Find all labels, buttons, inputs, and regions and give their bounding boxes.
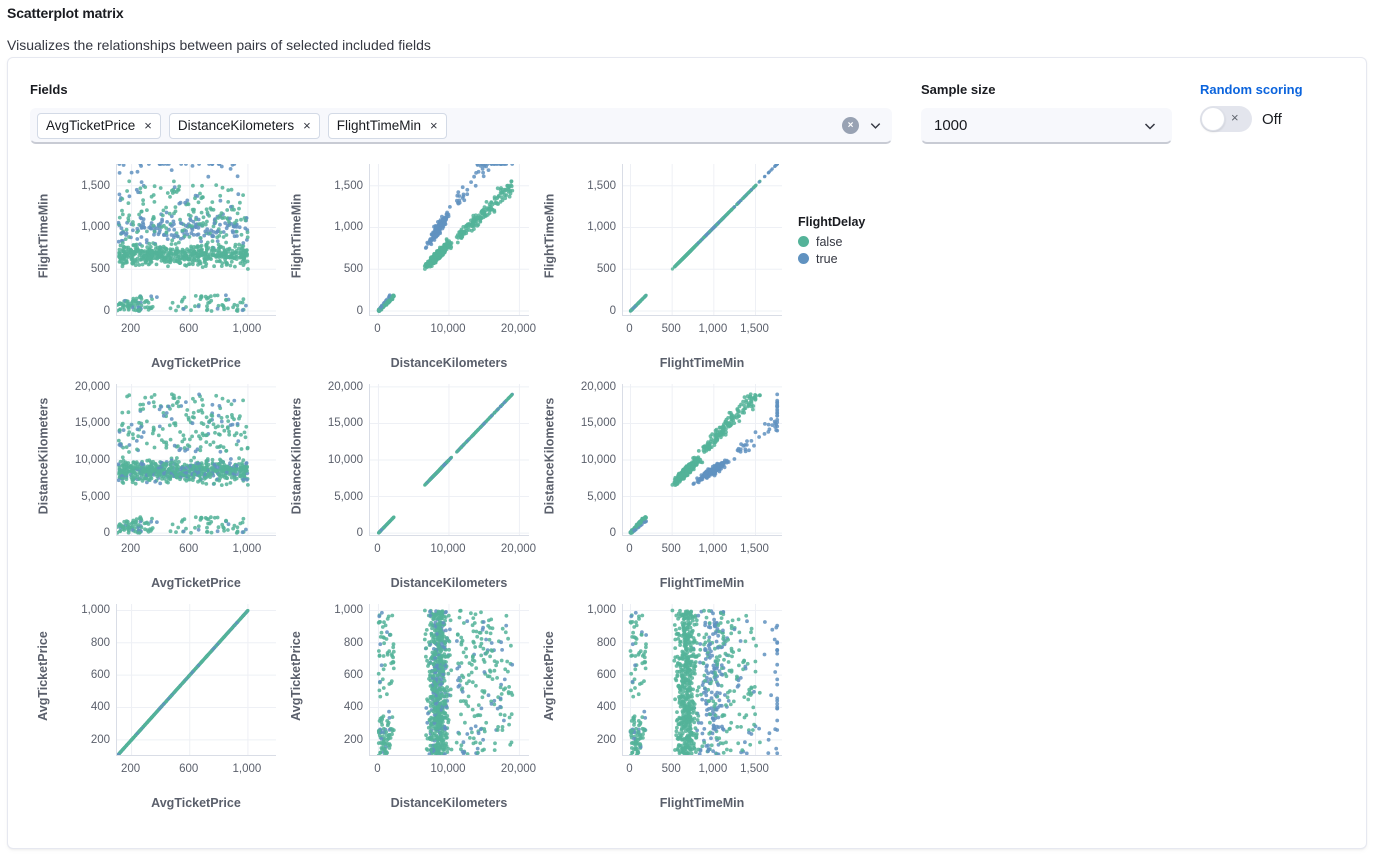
y-axis-tick-label: 5,000 [334, 491, 363, 503]
plot-area[interactable] [369, 164, 529, 316]
y-axis-tick-label: 200 [597, 734, 616, 746]
x-axis-tick-label: 1,000 [698, 323, 727, 335]
x-axis-tick-label: 20,000 [501, 543, 536, 555]
y-axis-tick-label: 200 [91, 734, 110, 746]
y-axis-tick-label: 15,000 [328, 417, 363, 429]
y-axis-tick-label: 800 [91, 637, 110, 649]
field-pill-flighttimemin[interactable]: FlightTimeMin × [328, 113, 447, 139]
controls-bar: Fields AvgTicketPrice × DistanceKilomete… [8, 58, 1366, 158]
scatter-panel-avgticketprice-vs-distancekilometers[interactable]: AvgTicketPrice2004006008001,000010,00020… [283, 596, 536, 836]
combobox-actions: × [842, 109, 883, 142]
random-scoring-state: Off [1262, 111, 1282, 128]
x-axis-tick-label: 0 [374, 323, 380, 335]
y-axis-tick-label: 400 [597, 701, 616, 713]
y-axis-tick-label: 5,000 [81, 491, 110, 503]
x-axis-title: FlightTimeMin [582, 796, 822, 810]
y-axis-title: AvgTicketPrice [283, 596, 309, 756]
legend-item-false[interactable]: false [798, 233, 865, 250]
matrix-row: FlightTimeMin05001,0001,5002006001,000Av… [30, 156, 789, 376]
x-axis-tick-label: 200 [121, 543, 140, 555]
y-axis-tick-label: 1,000 [587, 604, 616, 616]
x-axis-tick-label: 1,500 [740, 543, 769, 555]
field-pill-distancekilometers[interactable]: DistanceKilometers × [169, 113, 320, 139]
y-axis-tick-label: 800 [597, 637, 616, 649]
x-axis-tick-label: 1,000 [698, 763, 727, 775]
remove-field-icon[interactable]: × [303, 119, 311, 132]
y-axis-tick-label: 500 [344, 263, 363, 275]
field-pill-avgticketprice[interactable]: AvgTicketPrice × [37, 113, 161, 139]
scatter-panel-flighttimemin-vs-distancekilometers[interactable]: FlightTimeMin05001,0001,500010,00020,000… [283, 156, 536, 376]
legend-color-swatch [798, 236, 809, 247]
x-axis-title: AvgTicketPrice [76, 576, 316, 590]
x-axis-title: FlightTimeMin [582, 356, 822, 370]
y-axis-title: DistanceKilometers [536, 376, 562, 536]
x-axis-tick-label: 1,000 [233, 543, 262, 555]
x-axis-tick-label: 500 [662, 543, 681, 555]
scatter-panel-distancekilometers-vs-flighttimemin[interactable]: DistanceKilometers05,00010,00015,00020,0… [536, 376, 789, 596]
plot-area[interactable] [369, 384, 529, 536]
y-axis-title: AvgTicketPrice [536, 596, 562, 756]
scatter-panel-avgticketprice-vs-avgticketprice[interactable]: AvgTicketPrice2004006008001,0002006001,0… [30, 596, 283, 836]
matrix-row: DistanceKilometers05,00010,00015,00020,0… [30, 376, 789, 596]
y-axis-tick-label: 10,000 [328, 454, 363, 466]
plot-area[interactable] [622, 384, 782, 536]
legend-color-swatch [798, 253, 809, 264]
field-pill-label: AvgTicketPrice [46, 118, 135, 133]
x-axis-tick-label: 20,000 [501, 323, 536, 335]
x-axis-title: FlightTimeMin [582, 576, 822, 590]
random-scoring-toggle-wrap: × Off [1200, 106, 1282, 132]
x-axis-tick-label: 500 [662, 763, 681, 775]
random-scoring-label[interactable]: Random scoring [1200, 82, 1303, 97]
y-axis-tick-label: 1,000 [334, 221, 363, 233]
x-axis-title: DistanceKilometers [329, 796, 569, 810]
scatterplot-matrix-page: Scatterplot matrix Visualizes the relati… [0, 0, 1373, 859]
x-axis-tick-label: 1,000 [233, 323, 262, 335]
x-axis-tick-label: 600 [179, 763, 198, 775]
x-axis-tick-label: 600 [179, 543, 198, 555]
x-axis-tick-label: 500 [662, 323, 681, 335]
y-axis-tick-label: 500 [91, 263, 110, 275]
plot-area[interactable] [116, 604, 276, 756]
sample-size-label: Sample size [921, 82, 995, 97]
plot-area[interactable] [369, 604, 529, 756]
toggle-off-icon: × [1231, 111, 1239, 124]
scatter-panel-flighttimemin-vs-flighttimemin[interactable]: FlightTimeMin05001,0001,50005001,0001,50… [536, 156, 789, 376]
clear-all-icon[interactable]: × [842, 117, 859, 134]
y-axis-tick-label: 0 [104, 527, 110, 539]
x-axis-tick-label: 20,000 [501, 763, 536, 775]
y-axis-tick-label: 400 [91, 701, 110, 713]
legend: FlightDelay false true [798, 215, 865, 267]
sample-size-select[interactable]: 1000 [921, 108, 1172, 144]
y-axis-tick-label: 5,000 [587, 491, 616, 503]
x-axis-tick-label: 0 [626, 763, 632, 775]
y-axis-tick-label: 1,000 [81, 604, 110, 616]
plot-area[interactable] [116, 384, 276, 536]
toggle-knob [1201, 107, 1225, 131]
x-axis-tick-label: 200 [121, 763, 140, 775]
x-axis-tick-label: 200 [121, 323, 140, 335]
remove-field-icon[interactable]: × [144, 119, 152, 132]
fields-label: Fields [30, 82, 68, 97]
y-axis-tick-label: 1,500 [587, 180, 616, 192]
scatter-panel-distancekilometers-vs-distancekilometers[interactable]: DistanceKilometers05,00010,00015,00020,0… [283, 376, 536, 596]
x-axis-tick-label: 10,000 [430, 543, 465, 555]
y-axis-title: DistanceKilometers [283, 376, 309, 536]
legend-item-true[interactable]: true [798, 250, 865, 267]
y-axis-tick-label: 600 [597, 669, 616, 681]
scatter-panel-avgticketprice-vs-flighttimemin[interactable]: AvgTicketPrice2004006008001,00005001,000… [536, 596, 789, 836]
x-axis-tick-label: 0 [626, 323, 632, 335]
y-axis-tick-label: 500 [597, 263, 616, 275]
plot-area[interactable] [622, 604, 782, 756]
field-pill-label: DistanceKilometers [178, 118, 294, 133]
x-axis-title: AvgTicketPrice [76, 796, 316, 810]
x-axis-tick-label: 1,000 [698, 543, 727, 555]
y-axis-tick-label: 0 [104, 305, 110, 317]
y-axis-tick-label: 1,000 [81, 221, 110, 233]
sample-size-value: 1000 [934, 117, 967, 134]
x-axis-tick-label: 1,000 [233, 763, 262, 775]
page-subtitle: Visualizes the relationships between pai… [7, 37, 431, 53]
y-axis-tick-label: 15,000 [581, 417, 616, 429]
chevron-down-icon[interactable] [868, 118, 883, 133]
y-axis-tick-label: 800 [344, 637, 363, 649]
fields-combobox[interactable]: AvgTicketPrice × DistanceKilometers × Fl… [30, 108, 892, 144]
y-axis-tick-label: 0 [357, 527, 363, 539]
legend-item-label: false [816, 235, 842, 249]
legend-item-label: true [816, 252, 838, 266]
plot-area[interactable] [622, 164, 782, 316]
y-axis-tick-label: 1,000 [587, 221, 616, 233]
y-axis-title: FlightTimeMin [283, 156, 309, 316]
x-axis-tick-label: 0 [626, 543, 632, 555]
y-axis-tick-label: 400 [344, 701, 363, 713]
x-axis-tick-label: 600 [179, 323, 198, 335]
scatterplot-matrix-grid: FlightTimeMin05001,0001,5002006001,000Av… [30, 156, 789, 836]
y-axis-tick-label: 600 [344, 669, 363, 681]
y-axis-tick-label: 20,000 [75, 381, 110, 393]
y-axis-title: FlightTimeMin [536, 156, 562, 316]
y-axis-tick-label: 1,000 [334, 604, 363, 616]
y-axis-tick-label: 1,500 [81, 180, 110, 192]
scatterplot-matrix-card: Fields AvgTicketPrice × DistanceKilomete… [7, 57, 1367, 849]
x-axis-title: DistanceKilometers [329, 576, 569, 590]
random-scoring-toggle[interactable]: × [1200, 106, 1252, 132]
y-axis-tick-label: 15,000 [75, 417, 110, 429]
y-axis-title: DistanceKilometers [30, 376, 56, 536]
x-axis-tick-label: 1,500 [740, 763, 769, 775]
field-pill-label: FlightTimeMin [337, 118, 421, 133]
legend-title: FlightDelay [798, 215, 865, 229]
matrix-row: AvgTicketPrice2004006008001,0002006001,0… [30, 596, 789, 836]
y-axis-tick-label: 20,000 [328, 381, 363, 393]
x-axis-tick-label: 10,000 [430, 763, 465, 775]
plot-area[interactable] [116, 164, 276, 316]
page-title: Scatterplot matrix [7, 5, 124, 21]
y-axis-tick-label: 600 [91, 669, 110, 681]
x-axis-tick-label: 0 [374, 763, 380, 775]
scatter-panel-flighttimemin-vs-avgticketprice[interactable]: FlightTimeMin05001,0001,5002006001,000Av… [30, 156, 283, 376]
y-axis-tick-label: 0 [610, 527, 616, 539]
y-axis-tick-label: 10,000 [75, 454, 110, 466]
y-axis-tick-label: 10,000 [581, 454, 616, 466]
y-axis-title: FlightTimeMin [30, 156, 56, 316]
x-axis-title: AvgTicketPrice [76, 356, 316, 370]
x-axis-tick-label: 0 [374, 543, 380, 555]
remove-field-icon[interactable]: × [430, 119, 438, 132]
y-axis-tick-label: 20,000 [581, 381, 616, 393]
y-axis-tick-label: 0 [357, 305, 363, 317]
x-axis-title: DistanceKilometers [329, 356, 569, 370]
y-axis-title: AvgTicketPrice [30, 596, 56, 756]
y-axis-tick-label: 0 [610, 305, 616, 317]
y-axis-tick-label: 1,500 [334, 180, 363, 192]
x-axis-tick-label: 1,500 [740, 323, 769, 335]
y-axis-tick-label: 200 [344, 734, 363, 746]
chevron-down-icon[interactable] [1142, 118, 1158, 134]
scatter-panel-distancekilometers-vs-avgticketprice[interactable]: DistanceKilometers05,00010,00015,00020,0… [30, 376, 283, 596]
x-axis-tick-label: 10,000 [430, 323, 465, 335]
